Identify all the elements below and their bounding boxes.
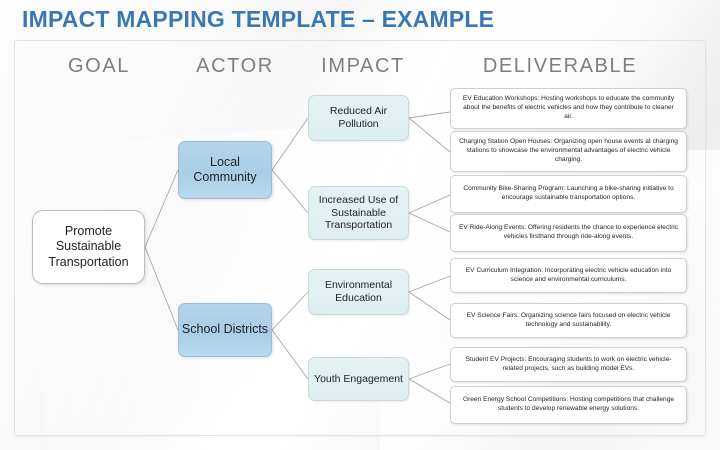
deliverable-node-ev-science-fairs[interactable]: EV Science Fairs: Organizing science fai… [450, 303, 687, 338]
column-header-impact: IMPACT [288, 55, 438, 78]
deliverable-node-ev-curriculum-integration[interactable]: EV Curriculum Integration: Incorporating… [450, 258, 687, 293]
column-header-deliverable: DELIVERABLE [430, 55, 690, 78]
deliverable-node-ev-ride-along-events[interactable]: EV Ride-Along Events: Offering residents… [450, 214, 687, 252]
goal-node[interactable]: Promote Sustainable Transportation [32, 210, 145, 284]
impact-node-youth-engagement[interactable]: Youth Engagement [308, 357, 409, 401]
actor-node-local-community[interactable]: Local Community [178, 141, 272, 199]
page-title: IMPACT MAPPING TEMPLATE – EXAMPLE [22, 6, 494, 33]
deliverable-node-ev-education-workshops[interactable]: EV Education Workshops: Hosting workshop… [450, 88, 687, 129]
deliverable-node-community-bike-sharing[interactable]: Community Bike-Sharing Program: Launchin… [450, 175, 687, 213]
column-header-goal: GOAL [24, 55, 174, 78]
slide-canvas: IMPACT MAPPING TEMPLATE – EXAMPLE GOAL A… [0, 0, 720, 450]
impact-node-reduced-air-pollution[interactable]: Reduced Air Pollution [308, 95, 409, 141]
actor-node-school-districts[interactable]: School Districts [178, 303, 272, 357]
impact-node-environmental-education[interactable]: Environmental Education [308, 269, 409, 315]
deliverable-node-student-ev-projects[interactable]: Student EV Projects: Encouraging student… [450, 347, 687, 382]
deliverable-node-charging-station-open-houses[interactable]: Charging Station Open Houses: Organizing… [450, 131, 687, 172]
impact-node-increased-sustainable-transportation[interactable]: Increased Use of Sustainable Transportat… [308, 186, 409, 240]
deliverable-node-green-energy-school-competitions[interactable]: Green Energy School Competitions: Hostin… [450, 386, 687, 424]
